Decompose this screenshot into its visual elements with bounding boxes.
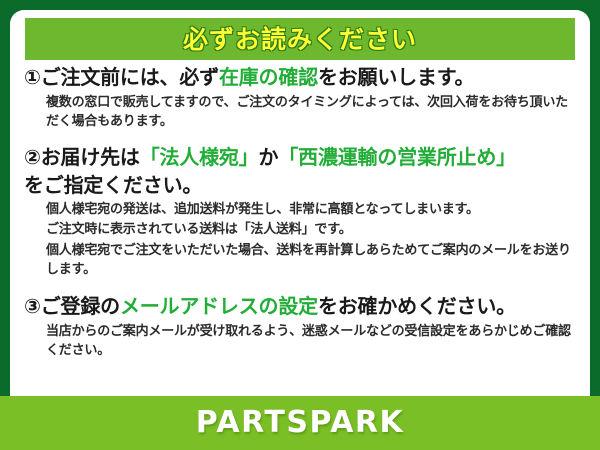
notice-item-3: ③ご登録のメールアドレスの設定をお確かめください。 当店からのご案内メールが受け… bbox=[24, 293, 578, 360]
item-2-subtext-line2: ご注文時に表示されている送料は「法人送料」です。 bbox=[46, 220, 576, 239]
notice-item-1: ①ご注文前には、必ず在庫の確認をお願いします。 複数の窓口で販売してますので、ご… bbox=[24, 64, 578, 131]
item-1-headline-pre: ご注文前には、必ず bbox=[41, 65, 219, 89]
notice-panel: 必ずお読みください ①ご注文前には、必ず在庫の確認をお願いします。 複数の窓口で… bbox=[10, 10, 590, 398]
item-2-headline-line2: をご指定ください。 bbox=[24, 172, 578, 200]
item-2-subtext-line3: 個人様宅宛でご注文をいただいた場合、送料を再計算しあらためてご案内のメールをお送… bbox=[46, 241, 576, 279]
item-1-headline-accent: 在庫の確認 bbox=[219, 65, 318, 89]
item-3-subtext: 当店からのご案内メールが受け取れるよう、迷惑メールなどの受信設定をあらかじめご確… bbox=[46, 322, 576, 360]
notice-card: 必ずお読みください ①ご注文前には、必ず在庫の確認をお願いします。 複数の窓口で… bbox=[0, 0, 600, 450]
title-banner: 必ずお読みください bbox=[25, 18, 575, 60]
item-2-marker: ② bbox=[24, 145, 41, 169]
item-3-headline-post: をお確かめください。 bbox=[318, 294, 516, 318]
item-3-marker: ③ bbox=[24, 294, 41, 318]
item-1-marker: ① bbox=[24, 65, 41, 89]
item-2-headline-pre: お届け先は bbox=[41, 145, 140, 169]
item-2-headline-mid: か bbox=[259, 145, 279, 169]
notice-body: ①ご注文前には、必ず在庫の確認をお願いします。 複数の窓口で販売してますので、ご… bbox=[10, 64, 590, 362]
item-2-headline-accent-1: 「法人様宛」 bbox=[140, 145, 259, 169]
item-3-headline-accent: メールアドレスの設定 bbox=[120, 294, 318, 318]
brand-name: PARTSPARK bbox=[196, 408, 405, 438]
item-1-headline: ①ご注文前には、必ず在庫の確認をお願いします。 bbox=[24, 64, 578, 92]
notice-item-2: ②お届け先は「法人様宛」か「西濃運輸の営業所止め」 をご指定ください。 個人様宅… bbox=[24, 144, 578, 279]
item-2-headline-line1: ②お届け先は「法人様宛」か「西濃運輸の営業所止め」 bbox=[24, 144, 578, 172]
item-3-headline: ③ご登録のメールアドレスの設定をお確かめください。 bbox=[24, 293, 578, 321]
footer-brand-band: PARTSPARK bbox=[0, 396, 600, 450]
item-3-headline-pre: ご登録の bbox=[41, 294, 120, 318]
notice-title: 必ずお読みください bbox=[183, 27, 417, 52]
item-2-headline-accent-2: 「西濃運輸の営業所止め」 bbox=[278, 145, 516, 169]
item-1-subtext: 複数の窓口で販売してますので、ご注文のタイミングによっては、次回入荷をお待ち頂い… bbox=[46, 93, 576, 131]
item-1-headline-post: をお願いします。 bbox=[318, 65, 474, 89]
item-2-subtext-line1: 個人様宅宛の発送は、追加送料が発生し、非常に高額となってしまいます。 bbox=[46, 200, 576, 219]
